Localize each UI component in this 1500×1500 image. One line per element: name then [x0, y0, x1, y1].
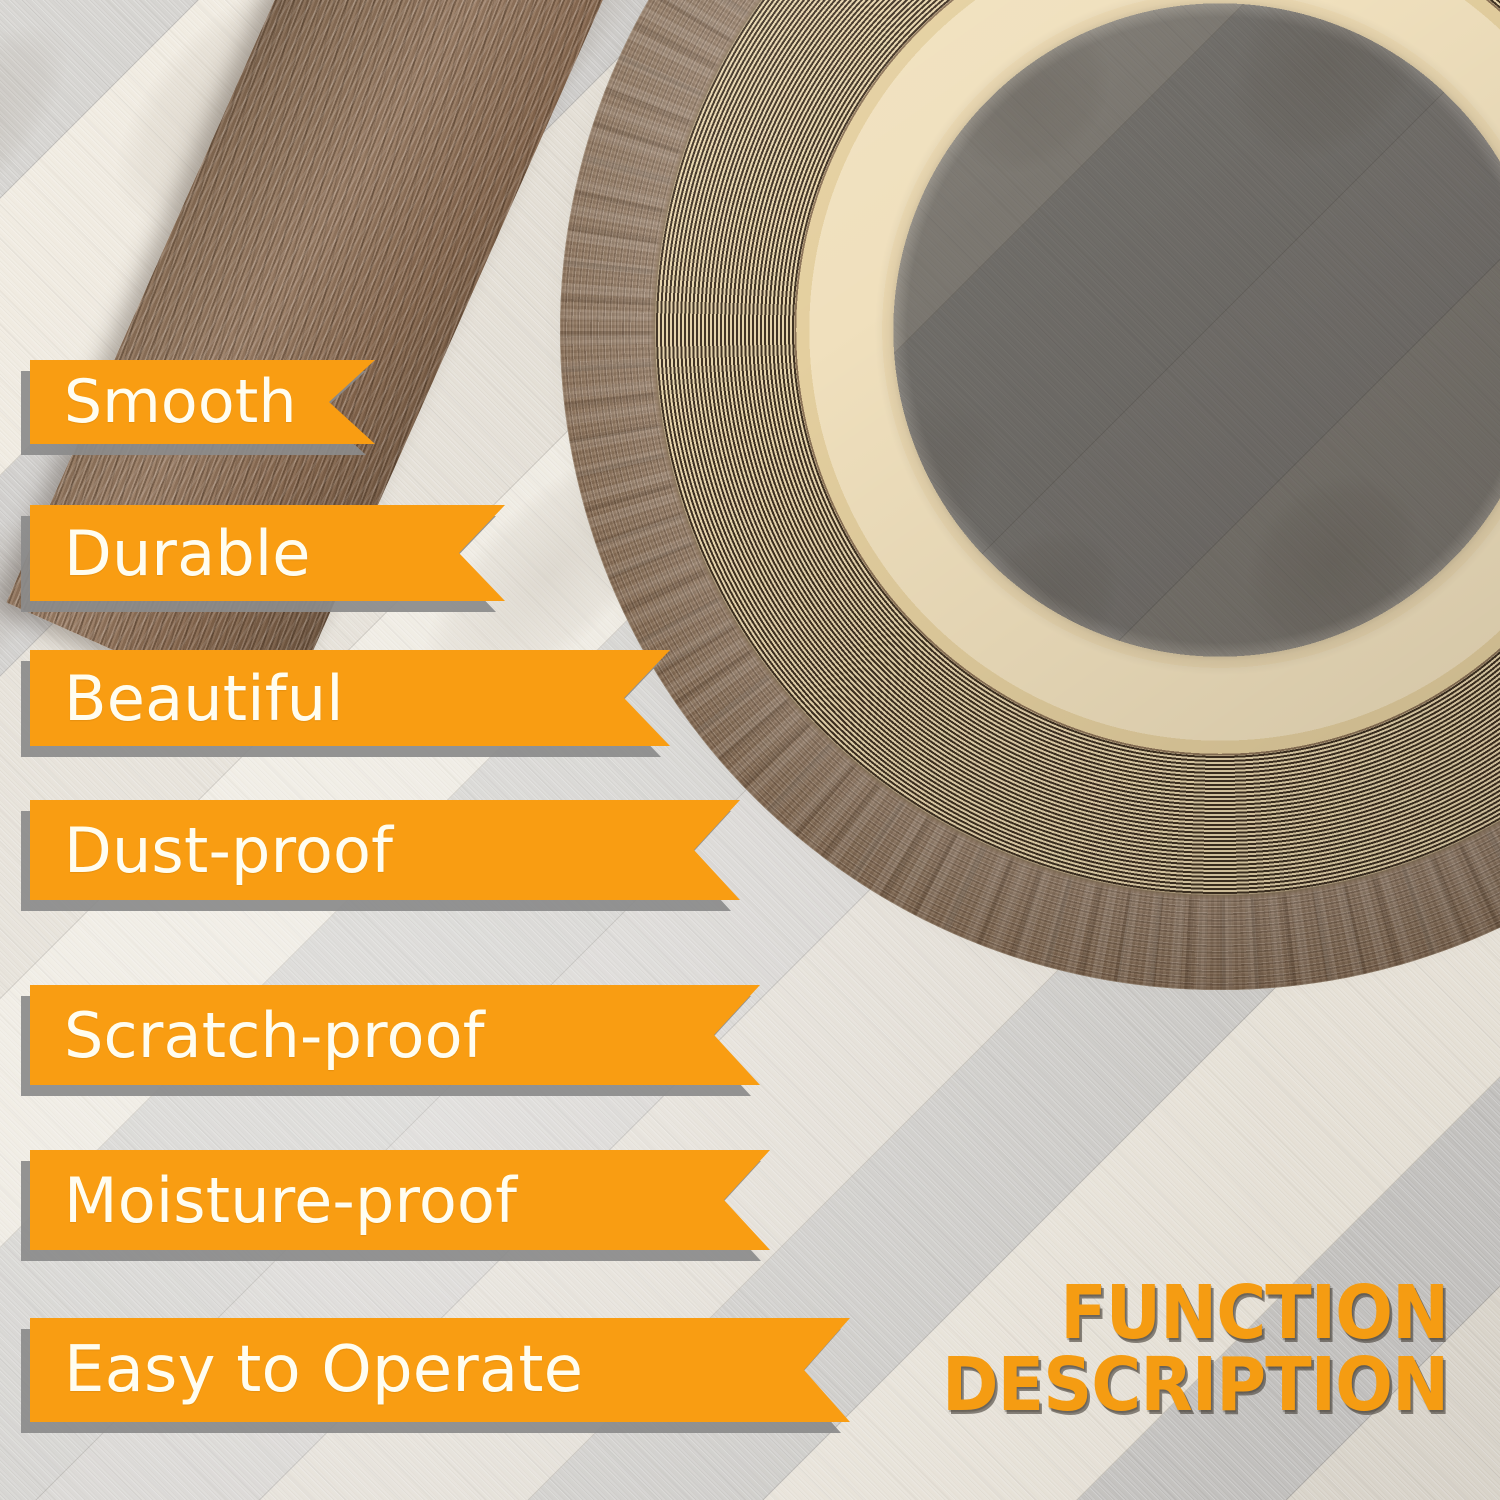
- feature-banner[interactable]: Smooth: [30, 360, 375, 444]
- function-description-heading: FUNCTION DESCRIPTION: [898, 1277, 1448, 1422]
- product-feature-image: SmoothDurableBeautifulDust-proofScratch-…: [0, 0, 1500, 1500]
- feature-banner-label: Moisture-proof: [64, 1164, 517, 1237]
- feature-banner-label: Beautiful: [64, 662, 344, 735]
- feature-banner[interactable]: Durable: [30, 505, 505, 601]
- feature-banner[interactable]: Dust-proof: [30, 800, 740, 900]
- feature-banner[interactable]: Beautiful: [30, 650, 670, 746]
- feature-banner-label: Easy to Operate: [64, 1333, 583, 1407]
- feature-banner-label: Dust-proof: [64, 814, 393, 887]
- feature-banner[interactable]: Moisture-proof: [30, 1150, 770, 1250]
- feature-banner[interactable]: Scratch-proof: [30, 985, 760, 1085]
- feature-banner[interactable]: Easy to Operate: [30, 1318, 850, 1422]
- heading-line-2: DESCRIPTION: [942, 1349, 1448, 1422]
- heading-line-1: FUNCTION: [942, 1277, 1448, 1350]
- feature-banner-label: Durable: [64, 517, 311, 590]
- feature-banner-label: Scratch-proof: [64, 999, 485, 1072]
- feature-banner-list: SmoothDurableBeautifulDust-proofScratch-…: [0, 0, 900, 1500]
- feature-banner-label: Smooth: [64, 367, 297, 437]
